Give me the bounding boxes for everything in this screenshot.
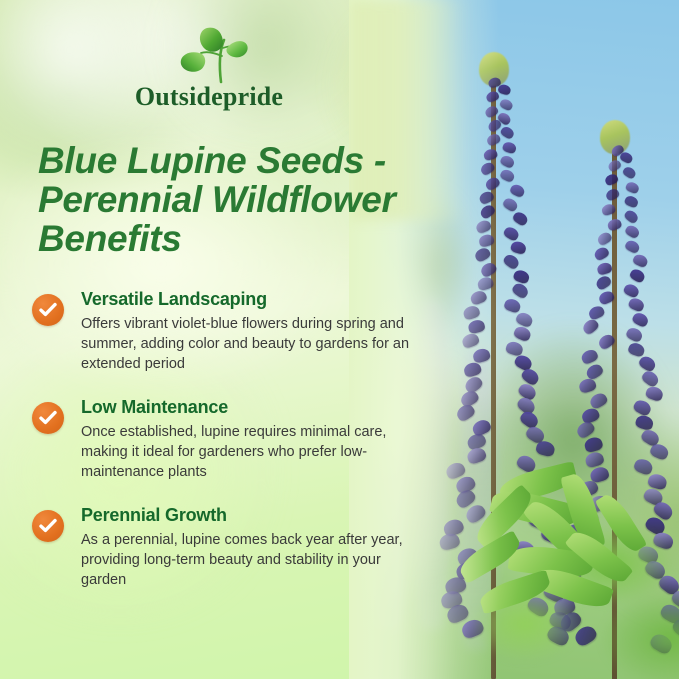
- lupine-floret: [580, 317, 600, 336]
- lupine-floret: [596, 231, 613, 247]
- benefit-item: Perennial Growth As a perennial, lupine …: [32, 504, 422, 590]
- lupine-floret: [624, 223, 641, 239]
- check-circle-icon: [32, 402, 64, 434]
- page-title: Blue Lupine Seeds - Perennial Wildflower…: [38, 141, 418, 258]
- benefit-item: Low Maintenance Once established, lupine…: [32, 396, 422, 482]
- benefits-list: Versatile Landscaping Offers vibrant vio…: [32, 288, 422, 612]
- lupine-floret: [624, 180, 640, 194]
- lupine-floret: [632, 253, 650, 269]
- lupine-floret: [606, 217, 622, 231]
- lupine-floret: [627, 341, 646, 358]
- title-line-3: Benefits: [38, 219, 418, 258]
- lupine-floret: [624, 238, 641, 254]
- lupine-floret: [499, 125, 515, 140]
- check-circle-icon: [32, 294, 64, 326]
- lupine-floret: [579, 347, 599, 365]
- lupine-floret: [578, 377, 598, 394]
- lupine-floret: [497, 83, 511, 95]
- lupine-floret: [604, 187, 620, 202]
- lupine-floret: [622, 165, 638, 180]
- brand-logo[interactable]: Outsidepride: [119, 26, 299, 112]
- lupine-floret: [499, 97, 515, 111]
- product-infographic: Outsidepride Blue Lupine Seeds - Perenni…: [0, 0, 679, 679]
- benefit-title: Versatile Landscaping: [81, 288, 422, 310]
- lupine-floret: [607, 158, 623, 173]
- benefit-item: Versatile Landscaping Offers vibrant vio…: [32, 288, 422, 374]
- lupine-floret: [640, 368, 661, 388]
- lupine-floret: [623, 282, 641, 299]
- lupine-floret: [619, 151, 634, 165]
- lupine-floret: [499, 154, 516, 169]
- check-circle-icon: [32, 510, 64, 542]
- brand-name: Outsidepride: [119, 82, 299, 112]
- benefit-description: As a perennial, lupine comes back year a…: [81, 530, 416, 590]
- lupine-floret: [592, 245, 610, 261]
- lupine-floret: [627, 297, 645, 314]
- lupine-floret: [502, 140, 518, 154]
- benefit-description: Offers vibrant violet-blue flowers durin…: [81, 314, 416, 374]
- title-line-1: Blue Lupine Seeds -: [38, 141, 418, 180]
- benefit-title: Perennial Growth: [81, 504, 422, 526]
- lupine-floret: [596, 261, 613, 276]
- benefit-title: Low Maintenance: [81, 396, 422, 418]
- lupine-floret: [594, 274, 612, 291]
- lupine-floret: [624, 195, 640, 209]
- lupine-floret: [623, 208, 640, 224]
- lupine-floret: [588, 304, 607, 321]
- benefit-description: Once established, lupine requires minima…: [81, 422, 416, 482]
- lupine-floret: [631, 311, 650, 329]
- title-line-2: Perennial Wildflower: [38, 180, 418, 219]
- lupine-floret: [629, 267, 647, 284]
- lupine-floret: [624, 325, 643, 343]
- seedling-leaves-icon: [177, 26, 259, 84]
